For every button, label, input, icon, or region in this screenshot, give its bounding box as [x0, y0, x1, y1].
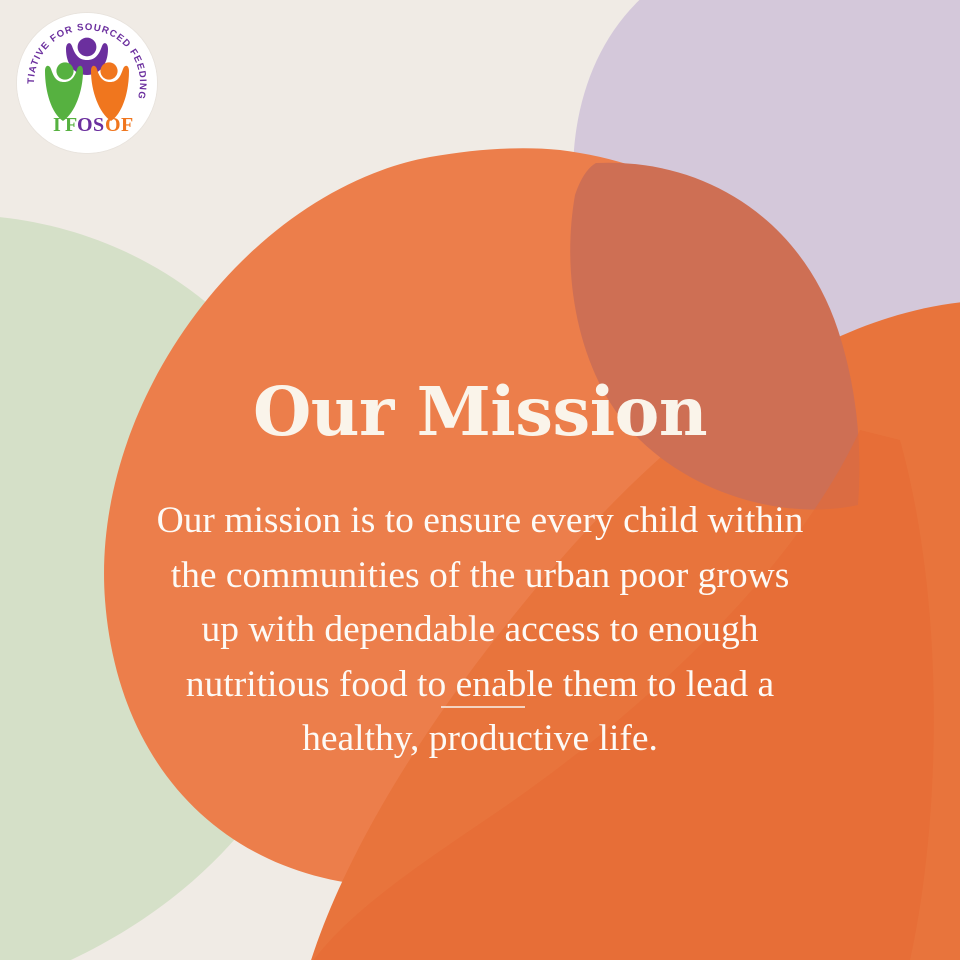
wordmark-letter-s: S — [93, 114, 104, 136]
wordmark-letter-f: F — [65, 114, 77, 136]
wordmark-letter-f2: F — [121, 114, 133, 136]
page-title: Our Mission — [0, 378, 960, 445]
mission-graphic-canvas: INITIATIVE FOR SOURCED FEEDING I F — [0, 0, 960, 960]
wordmark-letter-o1: O — [77, 114, 93, 136]
blob-orange-over-lavender — [570, 163, 859, 510]
mission-statement-text: Our mission is to ensure every child wit… — [122, 494, 838, 767]
ifosof-logo: INITIATIVE FOR SOURCED FEEDING I F — [17, 13, 157, 153]
wordmark-letter-o2: O — [105, 114, 121, 136]
logo-wordmark: I F O S O F — [53, 114, 133, 136]
wordmark-letter-i: I — [53, 114, 61, 136]
accent-rule-divider — [441, 706, 525, 708]
